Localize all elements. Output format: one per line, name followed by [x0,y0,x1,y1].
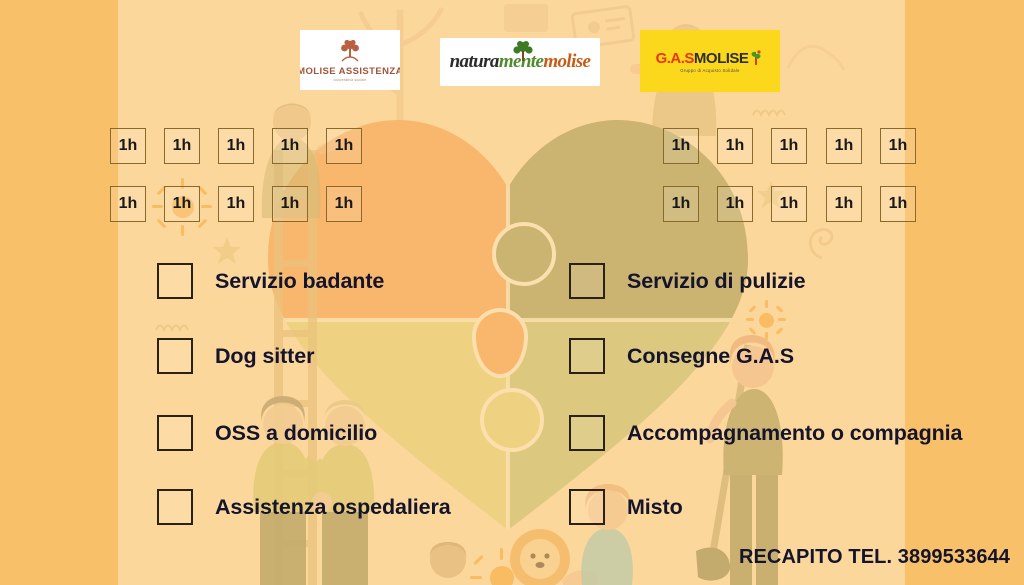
hour-box-left-r2-c5[interactable]: 1h [326,186,362,222]
logo-natura-part-a: natura [450,51,499,72]
hour-box-left-r2-c1[interactable]: 1h [110,186,146,222]
background-left-band [0,0,118,585]
hour-box-left-r1-c5[interactable]: 1h [326,128,362,164]
hour-box-left-r1-c1[interactable]: 1h [110,128,146,164]
hour-box-right-r1-c2[interactable]: 1h [717,128,753,164]
checkbox-accompagnamento[interactable] [569,415,605,451]
service-row-servizio-di-pulizie[interactable]: Servizio di pulizie [569,263,806,299]
contact-phone-text: RECAPITO TEL. 3899533644 [739,546,1010,569]
service-label-consegne-gas: Consegne G.A.S [627,344,794,369]
hour-box-left-r2-c4[interactable]: 1h [272,186,308,222]
checkbox-dog-sitter[interactable] [157,338,193,374]
logo-gas-title-b: MOLISE [694,50,749,67]
hour-box-right-r2-c5[interactable]: 1h [880,186,916,222]
logo-molise-title: MOLISE ASSISTENZA [300,66,400,77]
hour-box-right-r1-c3[interactable]: 1h [771,128,807,164]
service-label-assistenza-ospedaliera: Assistenza ospedaliera [215,495,451,520]
background-right-band [905,0,1024,585]
hour-box-right-r2-c3[interactable]: 1h [771,186,807,222]
service-row-oss-a-domicilio[interactable]: OSS a domicilio [157,415,377,451]
service-label-dog-sitter: Dog sitter [215,344,314,369]
hour-box-right-r1-c5[interactable]: 1h [880,128,916,164]
logo-naturalmente-molise: naturamentemolise [440,38,600,86]
logo-molise-subtitle: cooperativa sociale [334,78,367,82]
sprout-icon [748,50,764,66]
heart-puzzle-illustration [258,110,758,530]
hour-box-left-r2-c3[interactable]: 1h [218,186,254,222]
hour-box-right-r2-c1[interactable]: 1h [663,186,699,222]
hour-box-left-r2-c2[interactable]: 1h [164,186,200,222]
logo-molise-assistenza: MOLISE ASSISTENZA cooperativa sociale [300,30,400,90]
service-label-accompagnamento: Accompagnamento o compagnia [627,421,962,446]
checkbox-servizio-badante[interactable] [157,263,193,299]
logo-gas-title-a: G.A.S [656,50,694,67]
hour-box-left-r1-c4[interactable]: 1h [272,128,308,164]
service-label-servizio-di-pulizie: Servizio di pulizie [627,269,806,294]
checkbox-consegne-gas[interactable] [569,338,605,374]
service-row-dog-sitter[interactable]: Dog sitter [157,338,314,374]
logo-gas-subtitle: Gruppo di Acquisto Solidale [680,68,740,73]
service-row-misto[interactable]: Misto [569,489,683,525]
checkbox-misto[interactable] [569,489,605,525]
service-label-oss-a-domicilio: OSS a domicilio [215,421,377,446]
service-row-assistenza-ospedaliera[interactable]: Assistenza ospedaliera [157,489,451,525]
checkbox-oss-a-domicilio[interactable] [157,415,193,451]
poster-canvas: MOLISE ASSISTENZA cooperativa sociale na… [0,0,1024,585]
service-row-consegne-gas[interactable]: Consegne G.A.S [569,338,794,374]
checkbox-servizio-di-pulizie[interactable] [569,263,605,299]
service-row-servizio-badante[interactable]: Servizio badante [157,263,384,299]
puzzle-knob-lower [480,388,544,452]
logo-gas-molise: G.A.SMOLISE Gruppo di Acquisto Solidale [640,30,780,92]
hour-box-right-r2-c4[interactable]: 1h [826,186,862,222]
logo-natura-part-c: molise [543,51,590,72]
service-label-misto: Misto [627,495,683,520]
tree-icon [337,38,363,64]
checkbox-assistenza-ospedaliera[interactable] [157,489,193,525]
service-label-servizio-badante: Servizio badante [215,269,384,294]
hour-box-right-r1-c1[interactable]: 1h [663,128,699,164]
hour-box-right-r1-c4[interactable]: 1h [826,128,862,164]
puzzle-knob-upper [492,222,556,286]
hour-box-left-r1-c3[interactable]: 1h [218,128,254,164]
hour-box-right-r2-c2[interactable]: 1h [717,186,753,222]
service-row-accompagnamento[interactable]: Accompagnamento o compagnia [569,415,962,451]
tree-icon [510,40,536,64]
hour-box-left-r1-c2[interactable]: 1h [164,128,200,164]
